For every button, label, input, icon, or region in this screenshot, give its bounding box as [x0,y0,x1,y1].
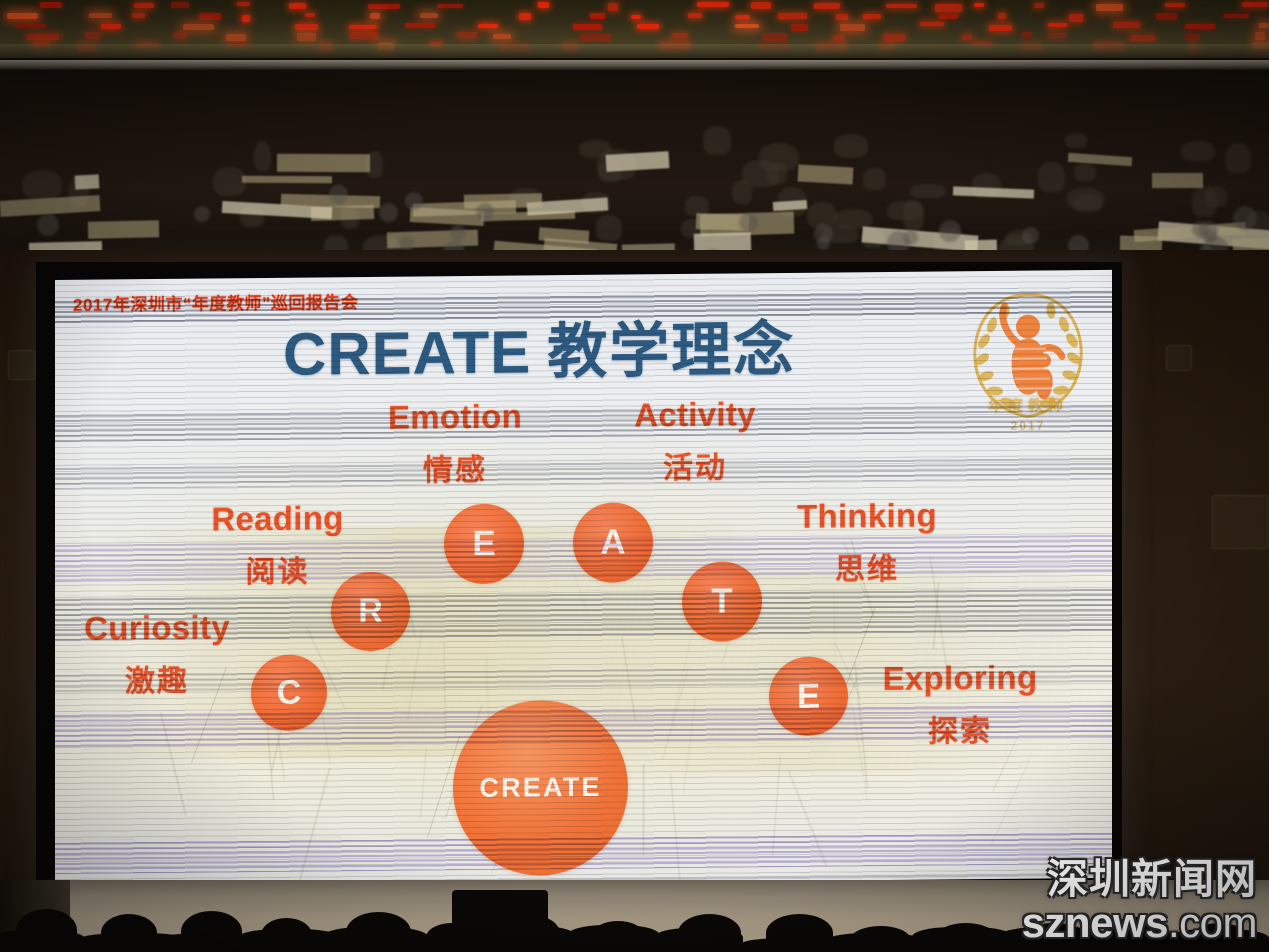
audience-head [450,225,466,241]
grass-stroke [295,768,330,888]
center-circle-label: CREATE [479,772,601,804]
paper-sheet [1152,173,1203,188]
node-circle-letter: A [600,523,625,563]
audience-head [1204,230,1217,243]
logo-year: 2017 [958,418,1098,433]
audience-head-silhouette [936,923,996,952]
podium-silhouette [452,890,548,952]
seat-silhouette [703,126,731,155]
ceiling-led [920,22,944,26]
ceiling-led [886,4,917,8]
node-label-en: Curiosity [57,608,257,648]
seat-silhouette [1205,186,1227,207]
seat-silhouette [863,168,886,190]
audience-head [1022,227,1039,244]
node-label-emotion: Emotion 情感 [355,397,555,490]
node-label-en: Thinking [767,496,967,536]
ceiling-led [17,24,46,28]
audience-head [194,206,210,222]
ceiling-led [573,24,602,30]
ceiling-led [420,13,438,18]
screen-scan-band [55,455,1112,489]
ceiling-led [132,13,145,18]
ceiling-led [1242,2,1268,7]
paper-sheet [75,174,100,189]
ceiling-led [295,24,318,30]
watermark-en: sznews.com [1022,902,1257,944]
ceiling-led [1048,33,1066,38]
ceiling-led [519,13,531,20]
ceiling-led [289,3,306,9]
node-label-activity: Activity 活动 [600,395,790,488]
ceiling-led [1022,32,1032,37]
grass-stroke [420,748,427,818]
ceiling-led [1096,4,1123,11]
ceiling-led [998,13,1006,19]
seat-silhouette [1038,162,1065,192]
seat-silhouette [22,170,62,199]
node-circle-r[interactable]: R [331,572,410,652]
slide-canvas: 2017年深圳市“年度教师”巡回报告会 CREATE教学理念 [55,270,1112,888]
ceiling-led [368,4,400,9]
grass-stroke [671,623,695,723]
grass-stroke [407,630,422,721]
ceiling-led [85,32,100,39]
ceiling-led [580,34,611,41]
ceiling-led [989,25,1012,31]
ceiling-led [27,34,59,40]
ceiling-led [134,3,154,8]
ceiling-led [1048,23,1067,27]
node-circle-letter: T [711,581,732,621]
audience-head [476,203,494,221]
node-label-en: Emotion [355,397,555,437]
ceiling-led [836,14,848,20]
slide-title-en: CREATE [283,318,531,387]
seat-silhouette [1181,141,1215,161]
node-circle-c[interactable]: C [251,654,327,731]
node-label-cn: 活动 [600,442,790,488]
ceiling-led [863,14,881,19]
node-circle-letter: C [277,673,302,712]
ceiling-led [935,4,962,12]
slide-title-cn: 教学理念 [547,316,795,385]
grass-stroke [772,754,781,856]
ceiling-led [237,2,250,6]
node-label-cn: 激趣 [57,655,257,701]
ceiling-led [493,34,511,39]
grass-stroke [788,771,827,867]
node-label-en: Exploring [850,658,1070,698]
ceiling-led [688,13,702,18]
paper-sheet [88,220,159,238]
ceiling-led [637,24,659,29]
ceiling-led [1255,32,1265,40]
audience-head [817,237,830,250]
ceiling-led [735,15,750,19]
ceiling-led [763,33,787,41]
ceiling-led [405,23,435,28]
ceiling-led [1156,13,1177,20]
ceiling-led [751,2,771,9]
watermark-en-domain: .com [1168,899,1257,946]
audience-head-silhouette [851,926,910,952]
grass-stroke [444,642,446,738]
ceiling-led [226,34,246,41]
audience-head [739,213,758,232]
grass-stroke [643,764,644,854]
grass-stroke [683,698,696,793]
ceiling-led [183,24,214,30]
seat-silhouette [596,215,622,241]
node-circle-letter: E [472,524,495,564]
ceiling-led [1069,14,1083,22]
paper-sheet [798,164,854,184]
balcony-rail [0,60,1269,70]
ceiling-led [1113,22,1140,28]
grass-stroke [662,667,689,759]
ceiling-led [814,3,840,9]
logo-caption: 年度教师 [958,394,1098,416]
seat-silhouette [1074,163,1096,181]
ceiling-led [242,15,250,22]
ceiling-led [350,32,378,39]
audience-head [379,203,398,222]
ceiling-led [7,13,38,19]
ceiling-led [608,3,618,11]
ceiling-led [1224,14,1249,18]
node-label-reading: Reading 阅读 [180,499,375,592]
node-circle-t[interactable]: T [682,561,762,642]
ceiling-led [297,33,316,41]
grass-stroke [160,713,186,814]
seat-silhouette [887,201,923,220]
ceiling-led [840,24,865,31]
watermark-en-bold: sznews [1022,899,1168,946]
audience-head-silhouette [591,921,645,952]
ceiling-led [199,13,221,20]
ceiling-led [171,2,189,8]
watermark-cn: 深圳新闻网 [1022,859,1257,900]
ceiling-led [1034,3,1044,8]
grass-stroke [670,773,681,888]
ceiling-led [833,35,844,41]
node-circle-e1[interactable]: E [444,503,524,584]
ceiling-led [40,2,62,8]
ceiling-led [1185,24,1215,29]
grass-stroke [572,567,589,617]
watermark: 深圳新闻网 sznews.com [1022,859,1257,944]
grass-stroke [621,637,636,722]
ceiling-led [778,13,807,19]
ceiling-led [370,13,380,19]
ceiling-led [974,3,984,7]
paper-sheet [277,154,370,172]
seat-silhouette [254,141,271,171]
node-circle-letter: E [797,676,820,716]
ceiling-led [89,13,112,18]
node-label-en: Activity [600,395,790,435]
ceiling-led [538,2,549,8]
audience-head [329,185,348,204]
ceiling-led [1165,3,1185,7]
node-label-en: Reading [180,499,375,539]
audience-head-silhouette [678,914,741,952]
node-label-exploring: Exploring 探索 [850,658,1070,751]
wall-panel [1212,495,1268,549]
ceiling-led [631,15,641,19]
node-circle-a[interactable]: A [573,502,653,583]
wall-panel [1166,345,1192,371]
audience-head [939,220,961,242]
audience-head [399,236,414,251]
ceiling-led [735,24,759,28]
audience-head [1233,206,1257,230]
wall-panel [8,350,36,380]
ceiling-led [962,35,972,40]
paper-sheet [464,193,542,208]
annual-teacher-logo: 年度教师 2017 [958,278,1098,449]
node-label-cn: 情感 [355,444,555,490]
ceiling-led [697,2,729,7]
seat-silhouette [1067,188,1104,209]
seat-silhouette [910,184,946,198]
led-screen[interactable]: 2017年深圳市“年度教师”巡回报告会 CREATE教学理念 [55,270,1112,888]
node-label-thinking: Thinking 思维 [767,496,967,589]
audience-head-silhouette [16,909,77,952]
node-circle-letter: R [358,592,383,631]
screen-scan-band [55,402,1112,442]
ceiling-led [101,24,121,29]
seat-silhouette [732,180,752,204]
ceiling-led [174,32,186,39]
node-label-curiosity: Curiosity 激趣 [57,608,257,701]
center-circle-create[interactable]: CREATE [453,699,628,876]
audience-head-silhouette [261,918,312,952]
ceiling-led [590,13,605,19]
ceiling-led [884,34,905,41]
node-circle-e2[interactable]: E [769,656,848,736]
audience-head-silhouette [181,911,242,952]
seat-silhouette [1225,143,1251,173]
node-label-cn: 探索 [850,705,1070,751]
ceiling-led [305,13,315,17]
ceiling-led [672,33,688,38]
ceiling-led [1259,23,1269,28]
seat-silhouette [759,143,799,171]
ceiling-led [1185,34,1200,40]
grass-stroke [990,757,1031,847]
paper-sheet [242,176,332,183]
audience-head-silhouette [101,914,157,952]
ceiling-led [437,4,463,8]
ceiling-led [478,24,498,28]
audience-head [405,192,423,210]
seat-silhouette [1065,133,1087,148]
conference-photo: 2017年深圳市“年度教师”巡回报告会 CREATE教学理念 [0,0,1269,952]
slide-title: CREATE教学理念 [283,301,795,393]
audience-head [37,214,59,236]
ceiling-led [457,32,477,38]
audience-head-silhouette [766,914,833,952]
seat-silhouette [834,134,868,158]
ceiling-led [939,13,958,19]
ceiling-led [791,24,808,31]
node-label-cn: 思维 [767,543,967,589]
ceiling-led [1130,35,1155,41]
ceiling-led [349,25,377,29]
